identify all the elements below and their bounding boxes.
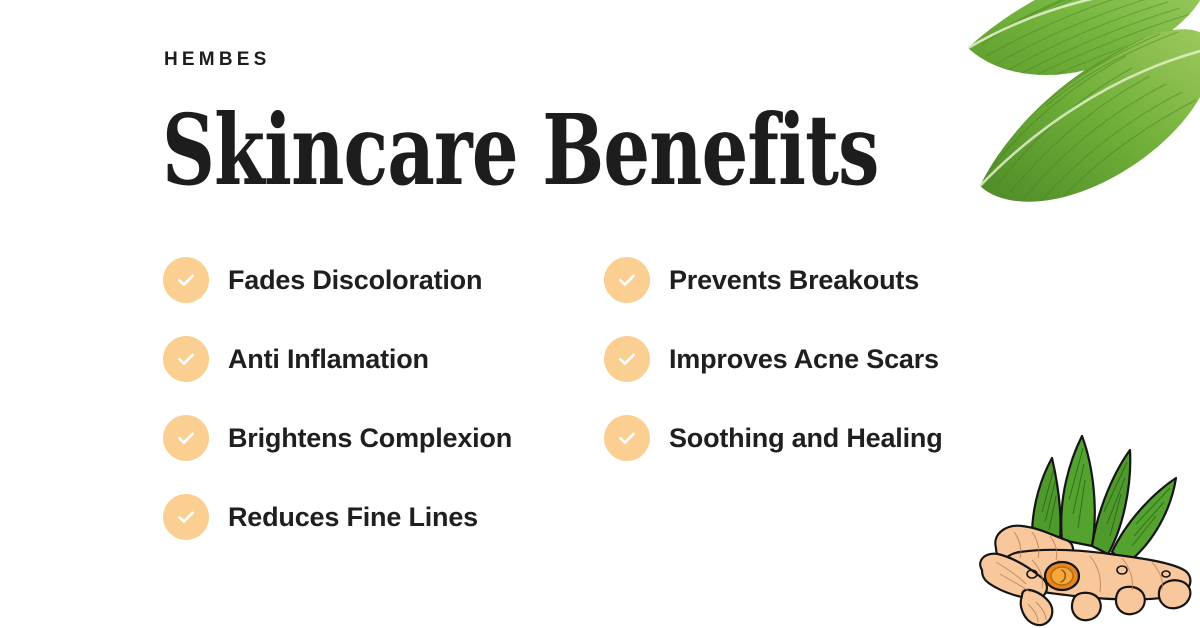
benefit-label: Brightens Complexion	[228, 422, 512, 454]
benefit-item: Anti Inflamation	[163, 336, 512, 415]
benefit-label: Anti Inflamation	[228, 343, 429, 375]
benefit-item: Improves Acne Scars	[604, 336, 943, 415]
leaf-upper	[968, 0, 1200, 77]
ginger-nodes	[1027, 566, 1170, 578]
ginger-leaves	[1032, 436, 1176, 564]
brand-name: HEMBES	[164, 50, 271, 69]
benefit-item: Fades Discoloration	[163, 257, 512, 336]
leaf-lower	[980, 29, 1200, 202]
check-icon	[163, 336, 209, 382]
page-title: Skincare Benefits	[162, 102, 879, 199]
check-icon	[163, 494, 209, 540]
benefits-column-right: Prevents Breakouts Improves Acne Scars S…	[604, 257, 943, 494]
ginger-texture	[996, 532, 1163, 622]
benefit-label: Reduces Fine Lines	[228, 501, 478, 533]
benefit-label: Soothing and Healing	[669, 422, 943, 454]
benefit-item: Prevents Breakouts	[604, 257, 943, 336]
benefit-item: Soothing and Healing	[604, 415, 943, 494]
green-leaves-icon	[946, 0, 1200, 216]
check-icon	[604, 415, 650, 461]
ginger-rhizome	[980, 526, 1190, 625]
check-icon	[163, 415, 209, 461]
ginger-root-icon	[970, 428, 1200, 628]
benefit-label: Prevents Breakouts	[669, 264, 919, 296]
check-icon	[163, 257, 209, 303]
check-icon	[604, 257, 650, 303]
benefit-label: Fades Discoloration	[228, 264, 482, 296]
poster-canvas: HEMBES Skincare Benefits Fades Discolora…	[0, 0, 1200, 628]
ginger-cut-section	[1045, 562, 1079, 590]
benefit-item: Brightens Complexion	[163, 415, 512, 494]
benefit-item: Reduces Fine Lines	[163, 494, 512, 573]
benefit-label: Improves Acne Scars	[669, 343, 939, 375]
benefits-column-left: Fades Discoloration Anti Inflamation Bri…	[163, 257, 512, 573]
check-icon	[604, 336, 650, 382]
